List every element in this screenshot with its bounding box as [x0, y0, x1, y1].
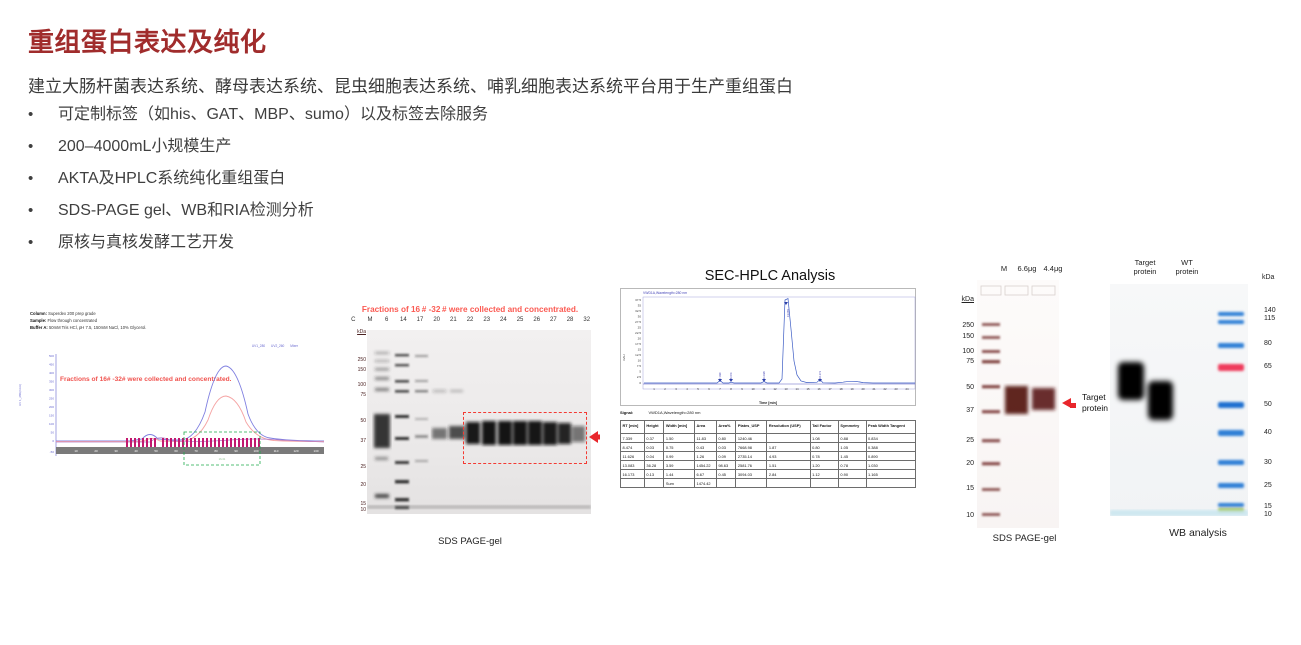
- column-header: Area%: [716, 421, 735, 434]
- svg-text:20: 20: [94, 449, 98, 453]
- lane-label: 6: [378, 317, 395, 329]
- lane-label: 27: [545, 317, 562, 329]
- bullet-marker-icon: •: [28, 105, 58, 125]
- svg-text:80: 80: [214, 449, 218, 453]
- svg-text:25: 25: [638, 326, 642, 330]
- hplc-signal-key: Signal:: [620, 410, 633, 415]
- svg-text:-50: -50: [50, 450, 55, 454]
- svg-text:7.5: 7.5: [637, 364, 642, 368]
- kda-header: kDa: [1262, 274, 1274, 281]
- svg-text:15: 15: [806, 387, 810, 391]
- bullet-marker-icon: •: [28, 137, 58, 157]
- cell: [716, 479, 735, 488]
- cell: 1240.46: [736, 434, 767, 443]
- chromatogram-panel: Column: Superdex 200 prep grade Sample: …: [18, 310, 328, 510]
- cell: 98.63: [716, 461, 735, 470]
- chromatogram-plot: 500450400 350300250 200150100 500-50 102…: [30, 352, 326, 474]
- svg-text:40: 40: [134, 449, 138, 453]
- target-protein-arrow-tail: [1070, 403, 1076, 408]
- page-title: 重组蛋白表达及纯化: [28, 22, 267, 59]
- svg-text:13: 13: [784, 387, 788, 391]
- cell: 1.50: [664, 434, 695, 443]
- svg-text:0: 0: [52, 439, 54, 443]
- cell: 11.626: [621, 452, 645, 461]
- lane-label: 28: [562, 317, 579, 329]
- svg-text:11.626: 11.626: [762, 371, 766, 379]
- cell: 1.87: [767, 443, 810, 452]
- kda-mark: 150: [358, 367, 366, 373]
- svg-text:400: 400: [49, 371, 54, 375]
- cell: 36.28: [644, 461, 663, 470]
- target-label-line1: Target: [1082, 392, 1108, 403]
- svg-text:70: 70: [194, 449, 198, 453]
- svg-text:17.5: 17.5: [635, 342, 641, 346]
- column-header: Symmetry: [838, 421, 866, 434]
- lane-label: 25: [512, 317, 529, 329]
- svg-text:250: 250: [49, 397, 54, 401]
- wb-kda-scale: kDa 140 115 80 65 50 40 30 25 15 10: [1250, 274, 1288, 516]
- cell: 0.388: [866, 443, 915, 452]
- svg-text:13.083: 13.083: [786, 309, 790, 317]
- cell: 0.90: [838, 470, 866, 479]
- cell: 1.45: [838, 452, 866, 461]
- lane-label: 26: [528, 317, 545, 329]
- svg-text:35: 35: [638, 304, 642, 308]
- list-item: • 原核与真核发酵工艺开发: [28, 233, 668, 265]
- table-row: 7.339 0.37 1.50 11.83 0.80 1240.46 1.08 …: [621, 434, 916, 443]
- metadata-value: 50mM Tris HCl, pH 7.5, 150mM NaCl, 10% G…: [49, 325, 147, 330]
- bullet-marker-icon: •: [28, 169, 58, 189]
- fraction-gel-body: C M 6 14 17 20 21 22 23 24 25 26 27 28 3…: [345, 317, 595, 517]
- column-header: RT [min]: [621, 421, 645, 434]
- cell: 6.67: [695, 470, 717, 479]
- fraction-gel-panel: Fractions of 16 # -32 # were collected a…: [345, 305, 595, 545]
- cell: 1.165: [866, 470, 915, 479]
- hplc-signal-caption: VWD1A,Wavelength=280 nm: [643, 291, 687, 295]
- lane-label: 32: [578, 317, 595, 329]
- legend-entry-uv260: UV2_260: [271, 344, 284, 348]
- target-protein-label: Target protein: [1082, 392, 1108, 414]
- cell: 2735.14: [736, 452, 767, 461]
- svg-text:500: 500: [49, 354, 54, 358]
- table-row: 13.083 36.28 3.59 1454.22 98.63 2581.76 …: [621, 461, 916, 470]
- svg-text:130: 130: [313, 449, 318, 453]
- cell: [838, 479, 866, 488]
- fraction-gel-annotation: Fractions of 16 # -32 # were collected a…: [345, 305, 595, 314]
- svg-text:20: 20: [861, 387, 865, 391]
- kda-mark: 80: [1264, 340, 1272, 347]
- table-row-sum: Sum 1474.42: [621, 479, 916, 488]
- svg-text:22.5: 22.5: [635, 331, 641, 335]
- slide-root: 重组蛋白表达及纯化 建立大肠杆菌表达系统、酵母表达系统、昆虫细胞表达系统、哺乳细…: [0, 0, 1301, 645]
- svg-text:100: 100: [253, 449, 258, 453]
- kda-mark: 15: [1264, 503, 1272, 510]
- cell: 1.44: [664, 470, 695, 479]
- svg-text:90: 90: [234, 449, 238, 453]
- svg-text:120: 120: [293, 449, 298, 453]
- lane-label: 17: [412, 317, 429, 329]
- svg-text:450: 450: [49, 363, 54, 367]
- svg-text:60: 60: [174, 449, 178, 453]
- purity-gel-panel: M 6.6μg 4.4μg kDa 250 150 100 75 50 37 2…: [942, 258, 1107, 548]
- kda-mark: 100: [962, 348, 974, 355]
- cell: 1.08: [810, 434, 838, 443]
- cell: 1.26: [695, 452, 717, 461]
- cell: 1474.42: [695, 479, 717, 488]
- cell: 0.03: [716, 443, 735, 452]
- bullet-text: 原核与真核发酵工艺开发: [58, 233, 234, 253]
- svg-text:23: 23: [894, 387, 898, 391]
- cell: 0.834: [866, 434, 915, 443]
- lane-label-line2: protein: [1134, 267, 1157, 276]
- kda-mark: 50: [1264, 401, 1272, 408]
- svg-text:16-31: 16-31: [219, 457, 226, 461]
- metadata-value: Superdex 200 prep grade: [48, 311, 96, 316]
- cell: 0.890: [866, 452, 915, 461]
- lane-label-line1: WT: [1181, 258, 1193, 267]
- lane-label: 23: [478, 317, 495, 329]
- svg-text:30: 30: [114, 449, 118, 453]
- cell: 0.80: [716, 434, 735, 443]
- svg-text:200: 200: [49, 405, 54, 409]
- lane-label: 20: [428, 317, 445, 329]
- fraction-gel-caption: SDS PAGE-gel: [345, 536, 595, 547]
- svg-text:30: 30: [638, 315, 642, 319]
- cell: 2581.76: [736, 461, 767, 470]
- kda-mark: 150: [962, 333, 974, 340]
- hplc-y-axis-label: mAU: [622, 354, 626, 361]
- legend-entry-uv280: UV1_280: [252, 344, 265, 348]
- lane-label: 4.4μg: [1030, 264, 1076, 273]
- cell: 0.04: [644, 452, 663, 461]
- lane-label: 24: [495, 317, 512, 329]
- kda-mark: 20: [360, 482, 366, 488]
- cell: 16.173: [621, 470, 645, 479]
- lane-label: M: [362, 317, 379, 329]
- cell: 0.75: [664, 443, 695, 452]
- svg-text:12.5: 12.5: [635, 353, 641, 357]
- svg-text:15: 15: [638, 348, 642, 352]
- cell: [736, 479, 767, 488]
- svg-text:22: 22: [883, 387, 887, 391]
- svg-text:37.5: 37.5: [635, 298, 641, 302]
- bullet-marker-icon: •: [28, 233, 58, 253]
- metadata-row: Sample: Flow through concentrated: [30, 317, 328, 324]
- cell: [621, 479, 645, 488]
- cell: 4.93: [767, 452, 810, 461]
- kda-mark: 250: [962, 322, 974, 329]
- hplc-title: SEC-HPLC Analysis: [620, 268, 920, 284]
- cell: 0.78: [838, 461, 866, 470]
- svg-text:110: 110: [274, 449, 279, 453]
- cell: [767, 434, 810, 443]
- column-header: Resolution (USP): [767, 421, 810, 434]
- svg-text:12: 12: [773, 387, 777, 391]
- cell: 1.12: [810, 470, 838, 479]
- cell: 0.13: [644, 470, 663, 479]
- svg-text:2.5: 2.5: [637, 375, 642, 379]
- svg-text:21: 21: [872, 387, 876, 391]
- bullet-marker-icon: •: [28, 201, 58, 221]
- svg-text:14: 14: [795, 387, 799, 391]
- wb-caption: WB analysis: [1108, 527, 1288, 539]
- purity-gel-body: kDa 250 150 100 75 50 37 25 20 15 10: [942, 280, 1107, 528]
- hplc-signal-value: VWD1A,Wavelength=280 nm: [648, 410, 700, 415]
- kda-mark: 50: [966, 384, 974, 391]
- cell: 0.37: [644, 434, 663, 443]
- svg-text:150: 150: [49, 414, 54, 418]
- svg-text:16: 16: [817, 387, 821, 391]
- bullet-text: SDS-PAGE gel、WB和RIA检测分析: [58, 201, 314, 221]
- purity-gel-image: [977, 280, 1059, 528]
- kda-mark: 50: [360, 418, 366, 424]
- column-header: Plates_USP: [736, 421, 767, 434]
- bullet-list: • 可定制标签（如his、GAT、MBP、sumo）以及标签去除服务 • 200…: [28, 105, 668, 265]
- svg-text:16.173: 16.173: [818, 371, 822, 379]
- svg-text:27.5: 27.5: [635, 320, 641, 324]
- hplc-x-axis-label: Time [min]: [759, 401, 777, 405]
- list-item: • 可定制标签（如his、GAT、MBP、sumo）以及标签去除服务: [28, 105, 668, 137]
- cell: 0.09: [716, 452, 735, 461]
- kda-mark: 37: [360, 438, 366, 444]
- lane-label: 22: [462, 317, 479, 329]
- cell: [810, 479, 838, 488]
- kda-mark: 15: [966, 485, 974, 492]
- svg-text:17: 17: [828, 387, 832, 391]
- list-item: • AKTA及HPLC系统纯化重组蛋白: [28, 169, 668, 201]
- list-item: • SDS-PAGE gel、WB和RIA检测分析: [28, 201, 668, 233]
- kda-mark: 25: [360, 464, 366, 470]
- target-label-line2: protein: [1082, 403, 1108, 414]
- chromatogram-y-axis-label: UV 1_280(mAU): [18, 384, 22, 406]
- svg-text:100: 100: [49, 422, 54, 426]
- hplc-plot: 37.53532.5 3027.525 22.52017.5 1512.510 …: [621, 289, 917, 407]
- kda-mark: 30: [1264, 459, 1272, 466]
- hplc-chart: VWD1A,Wavelength=280 nm mAU 37.53532.5 3…: [620, 288, 916, 406]
- svg-text:20: 20: [638, 337, 642, 341]
- cell: [644, 479, 663, 488]
- cell: 3.59: [664, 461, 695, 470]
- fraction-gel-lane-labels: C M 6 14 17 20 21 22 23 24 25 26 27 28 3…: [345, 317, 595, 329]
- svg-text:50: 50: [51, 431, 55, 435]
- cell: 1.030: [866, 461, 915, 470]
- kda-mark: 115: [1264, 315, 1275, 322]
- svg-text:7.339: 7.339: [718, 372, 722, 379]
- hplc-results-table: RT [min] Height Width [min] Area Area% P…: [620, 420, 916, 488]
- table-row: 11.626 0.04 0.99 1.26 0.09 2735.14 4.93 …: [621, 452, 916, 461]
- cell: 0.03: [644, 443, 663, 452]
- metadata-key: Sample:: [30, 318, 46, 323]
- kda-mark: 75: [360, 392, 366, 398]
- lane-label: 21: [445, 317, 462, 329]
- cell: 0.88: [838, 434, 866, 443]
- purity-gel-kda-scale: kDa 250 150 100 75 50 37 25 20 15 10: [942, 280, 976, 528]
- metadata-row: Column: Superdex 200 prep grade: [30, 310, 328, 317]
- kda-mark: 25: [1264, 482, 1272, 489]
- bullet-text: AKTA及HPLC系统纯化重组蛋白: [58, 169, 285, 189]
- svg-text:0: 0: [639, 381, 641, 385]
- page-subtitle: 建立大肠杆菌表达系统、酵母表达系统、昆虫细胞表达系统、哺乳细胞表达系统平台用于生…: [28, 72, 793, 97]
- cell: 8.474: [621, 443, 645, 452]
- kda-mark: 25: [966, 437, 974, 444]
- table-row: 8.474 0.03 0.75 0.43 0.03 7668.98 1.87 0…: [621, 443, 916, 452]
- cell: 0.99: [664, 452, 695, 461]
- svg-text:10: 10: [74, 449, 78, 453]
- metadata-key: Buffer A:: [30, 325, 48, 330]
- svg-text:5: 5: [639, 370, 641, 374]
- cell: 7.339: [621, 434, 645, 443]
- bullet-text: 200–4000mL小规模生产: [58, 137, 231, 157]
- svg-text:32.5: 32.5: [635, 309, 641, 313]
- cell: 1.05: [838, 443, 866, 452]
- column-header: Peak Width Tangent: [866, 421, 915, 434]
- cell: Sum: [664, 479, 695, 488]
- kda-mark: 75: [966, 358, 974, 365]
- cell: 11.83: [695, 434, 717, 443]
- metadata-row: Buffer A: 50mM Tris HCl, pH 7.5, 150mM N…: [30, 324, 328, 331]
- cell: 1.51: [767, 461, 810, 470]
- cell: 13.083: [621, 461, 645, 470]
- metadata-value: Flow through concentrated: [47, 318, 97, 323]
- purity-gel-lane-labels: M 6.6μg 4.4μg: [942, 258, 1107, 280]
- chromatogram-metadata: Column: Superdex 200 prep grade Sample: …: [18, 310, 328, 331]
- kda-header: kDa: [962, 296, 974, 303]
- svg-text:10: 10: [751, 387, 755, 391]
- fraction-gel-kda-scale: kDa 250 150 100 75 50 37 25 20 15 10: [345, 330, 367, 514]
- kda-mark: 37: [966, 407, 974, 414]
- svg-text:50: 50: [154, 449, 158, 453]
- column-header: Height: [644, 421, 663, 434]
- cell: 7668.98: [736, 443, 767, 452]
- svg-text:300: 300: [49, 388, 54, 392]
- kda-mark: 10: [1264, 511, 1272, 518]
- svg-text:18: 18: [839, 387, 843, 391]
- kda-mark: 140: [1264, 307, 1276, 314]
- cell: 2.84: [767, 470, 810, 479]
- table-header-row: RT [min] Height Width [min] Area Area% P…: [621, 421, 916, 434]
- list-item: • 200–4000mL小规模生产: [28, 137, 668, 169]
- lane-label: C: [345, 317, 362, 329]
- svg-text:11: 11: [763, 387, 766, 391]
- svg-text:24: 24: [905, 387, 909, 391]
- kda-mark: 20: [966, 460, 974, 467]
- chromatogram-legend: UV1_280 UV2_260 Mixer: [247, 344, 298, 348]
- cell: 1.20: [810, 461, 838, 470]
- cell: 0.43: [695, 443, 717, 452]
- bullet-text: 可定制标签（如his、GAT、MBP、sumo）以及标签去除服务: [58, 105, 488, 125]
- fraction-gel-arrow-icon: [588, 430, 600, 444]
- lane-label: WT protein: [1166, 258, 1208, 276]
- cell: 1454.22: [695, 461, 717, 470]
- column-header: Area: [695, 421, 717, 434]
- kda-mark: 10: [360, 507, 366, 513]
- kda-mark: 10: [966, 512, 974, 519]
- kda-mark: 100: [358, 382, 366, 388]
- legend-entry-mixer: Mixer: [290, 344, 298, 348]
- hplc-table-signal-row: Signal: VWD1A,Wavelength=280 nm: [620, 410, 920, 415]
- column-header: Width [min]: [664, 421, 695, 434]
- kda-mark: 40: [1264, 429, 1272, 436]
- wb-body: kDa 140 115 80 65 50 40 30 25 15 10: [1108, 284, 1288, 516]
- lane-label: Target protein: [1124, 258, 1166, 276]
- cell: 0.80: [810, 443, 838, 452]
- lane-label-line1: Target: [1135, 258, 1156, 267]
- cell: 0.45: [716, 470, 735, 479]
- svg-text:350: 350: [49, 380, 54, 384]
- kda-mark: 65: [1264, 363, 1272, 370]
- lane-label: 14: [395, 317, 412, 329]
- hplc-panel: SEC-HPLC Analysis VWD1A,Wavelength=280 n…: [620, 268, 920, 543]
- column-header: Tail Factor: [810, 421, 838, 434]
- kda-header: kDa: [357, 329, 366, 335]
- cell: 3094.03: [736, 470, 767, 479]
- wb-panel: Target protein WT protein: [1108, 258, 1288, 548]
- fraction-gel-image: [367, 330, 591, 514]
- wb-image: [1110, 284, 1248, 516]
- svg-text:8.474: 8.474: [729, 372, 733, 379]
- lane-label-line2: protein: [1176, 267, 1199, 276]
- cell: [866, 479, 915, 488]
- kda-mark: 250: [358, 357, 366, 363]
- cell: 0.78: [810, 452, 838, 461]
- purity-gel-caption: SDS PAGE-gel: [942, 533, 1107, 544]
- metadata-key: Column:: [30, 311, 47, 316]
- svg-text:10: 10: [638, 359, 642, 363]
- table-row: 16.173 0.13 1.44 6.67 0.45 3094.03 2.84 …: [621, 470, 916, 479]
- cell: [767, 479, 810, 488]
- svg-text:19: 19: [850, 387, 854, 391]
